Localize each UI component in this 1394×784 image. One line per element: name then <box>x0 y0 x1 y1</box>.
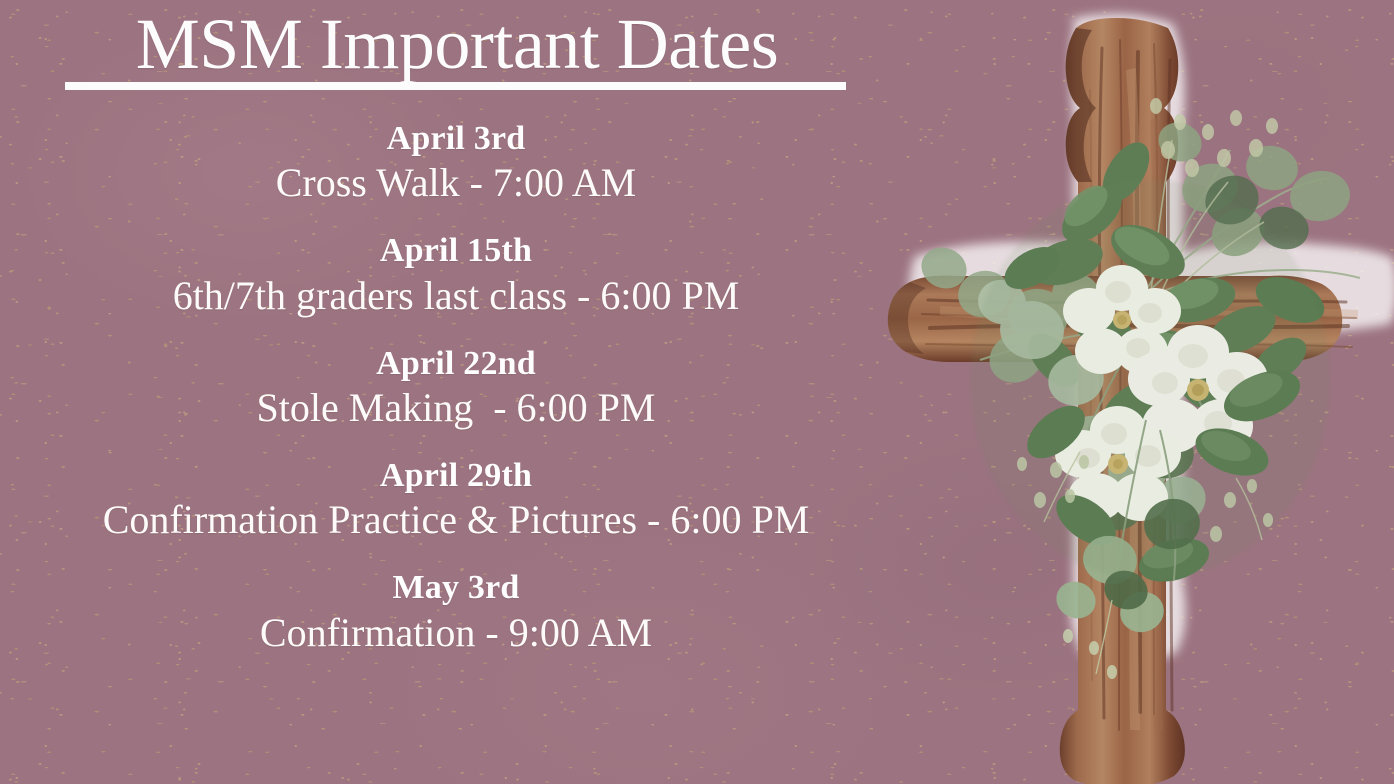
slide-canvas: MSM Important Dates April 3rd Cross Walk… <box>0 0 1394 784</box>
event-item: April 22nd Stole Making - 6:00 PM <box>0 343 912 433</box>
event-description: 6th/7th graders last class - 6:00 PM <box>0 272 912 321</box>
text-column: MSM Important Dates April 3rd Cross Walk… <box>0 0 912 784</box>
event-description: Confirmation Practice & Pictures - 6:00 … <box>0 496 912 545</box>
event-date: April 29th <box>0 455 912 496</box>
event-date: May 3rd <box>0 567 912 608</box>
title-underline <box>65 82 846 90</box>
event-item: April 15th 6th/7th graders last class - … <box>0 230 912 320</box>
event-date: April 15th <box>0 230 912 271</box>
event-item: April 29th Confirmation Practice & Pictu… <box>0 455 912 545</box>
event-description: Cross Walk - 7:00 AM <box>0 159 912 208</box>
event-date: April 22nd <box>0 343 912 384</box>
event-date: April 3rd <box>0 118 912 159</box>
events-list: April 3rd Cross Walk - 7:00 AM April 15t… <box>0 118 912 657</box>
page-title: MSM Important Dates <box>62 8 852 80</box>
event-item: April 3rd Cross Walk - 7:00 AM <box>0 118 912 208</box>
event-item: May 3rd Confirmation - 9:00 AM <box>0 567 912 657</box>
event-description: Confirmation - 9:00 AM <box>0 609 912 658</box>
event-description: Stole Making - 6:00 PM <box>0 384 912 433</box>
